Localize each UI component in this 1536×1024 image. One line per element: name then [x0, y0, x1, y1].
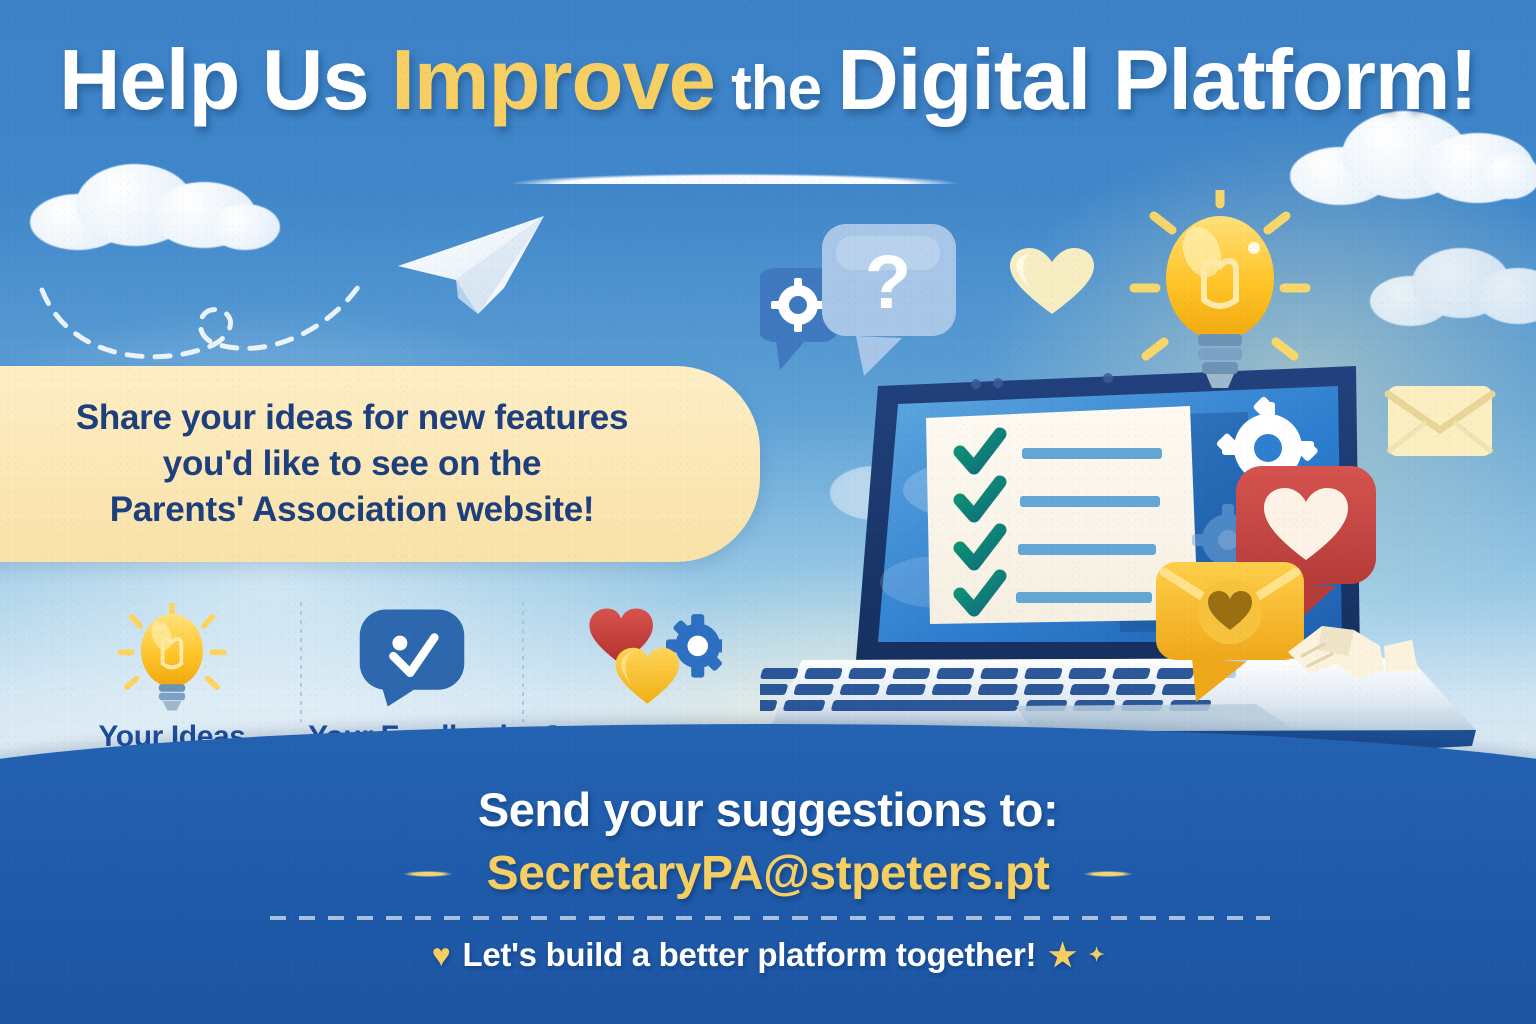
callout-line-3: Parents' Association website! [110, 487, 595, 533]
speech-bubble-icon [342, 604, 482, 712]
title-part-2: the [715, 54, 837, 123]
footer-band: Send your suggestions to: SecretaryPA@st… [0, 724, 1536, 1024]
heart-icon [1010, 248, 1094, 314]
callout-box: Share your ideas for new features you'd … [0, 366, 760, 562]
paper-plane-icon [392, 210, 552, 320]
email-row[interactable]: SecretaryPA@stpeters.pt [0, 846, 1536, 901]
small-star-icon: ✦ [1089, 946, 1105, 965]
question-bubble-icon: ? [822, 224, 956, 376]
envelope-icon [1388, 386, 1492, 456]
svg-text:?: ? [865, 240, 911, 325]
footer-tagline: ♥ Let's build a better platform together… [0, 936, 1536, 974]
callout-line-2: you'd like to see on the [163, 441, 541, 487]
footer-dotted-rule [270, 916, 1270, 920]
send-suggestions-label: Send your suggestions to: [0, 782, 1536, 837]
callout-line-1: Share your ideas for new features [76, 395, 628, 441]
title-part-3: Digital Platform! [837, 33, 1476, 128]
laptop-checklist-scene: ? [760, 190, 1536, 770]
cloud-left [30, 160, 280, 250]
lightbulb-icon [102, 604, 242, 712]
dash-right-icon [1075, 870, 1141, 878]
email-address[interactable]: SecretaryPA@stpeters.pt [487, 846, 1050, 901]
title-highlight: Improve [391, 33, 715, 128]
title-underline-swoosh [370, 150, 1100, 184]
poster-canvas: Help Us Improve the Digital Platform! [0, 0, 1536, 1024]
tagline-text: Let's build a better platform together! [463, 936, 1037, 974]
hearts-gear-icon [582, 604, 722, 712]
plane-trail [38, 264, 368, 374]
heart-icon: ♥ [432, 939, 451, 971]
lightbulb-icon [1134, 190, 1306, 388]
page-title: Help Us Improve the Digital Platform! [0, 38, 1536, 125]
title-part-1: Help Us [59, 33, 391, 128]
dash-left-icon [395, 870, 461, 878]
star-icon: ★ [1048, 939, 1076, 971]
